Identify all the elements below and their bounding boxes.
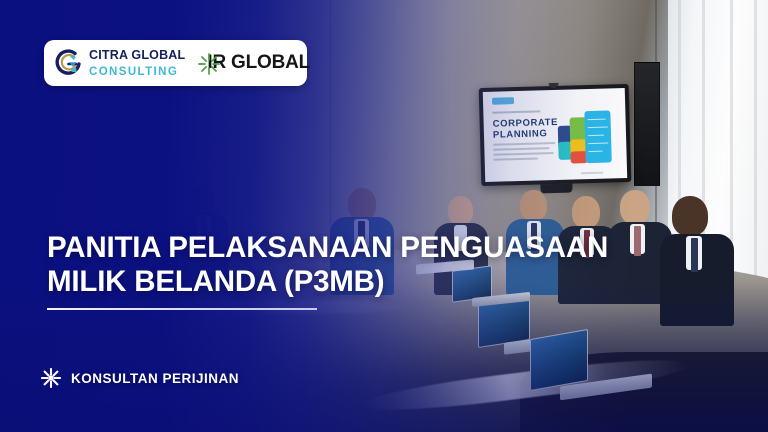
page-title-line2: MILIK BELANDA (P3MB) [47, 265, 737, 299]
citra-global-c-mark-icon [53, 48, 83, 78]
citra-logo-line1: CITRA GLOBAL [89, 48, 185, 62]
ir-global-wordmark: IR GLOBAL [207, 52, 310, 74]
hero-banner: CORPORATE PLANNING [0, 0, 768, 432]
logo-badge[interactable]: CITRA GLOBAL CONSULTING [44, 40, 307, 86]
citra-global-consulting-logo[interactable]: CITRA GLOBAL CONSULTING [53, 47, 185, 79]
citra-logo-line2: CONSULTING [89, 66, 178, 78]
tagline-text: KONSULTAN PERIJINAN [71, 371, 239, 386]
starburst-icon [198, 53, 220, 75]
page-title: PANITIA PELAKSANAAN PENGUASAAN MILIK BEL… [47, 231, 737, 299]
page-title-line1: PANITIA PELAKSANAAN PENGUASAAN [47, 231, 737, 265]
title-divider [47, 308, 317, 310]
starburst-icon [41, 368, 61, 388]
ir-global-logo[interactable]: IR GLOBAL [198, 51, 310, 75]
bottom-shade-overlay [0, 282, 768, 432]
citra-global-wordmark: CITRA GLOBAL CONSULTING [89, 47, 185, 79]
tagline: KONSULTAN PERIJINAN [41, 368, 239, 388]
